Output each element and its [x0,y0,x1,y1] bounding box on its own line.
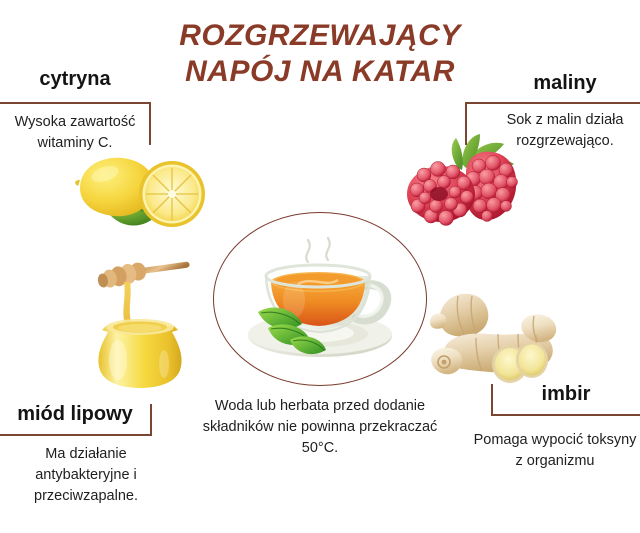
section-text-honey: Ma działanie antybakteryjne i przeciwzap… [0,444,172,507]
title-line-1: ROZGRZEWAJĄCY [179,19,461,52]
bracket-rule-honey-vertical [150,404,152,436]
honey-jar-icon [80,252,200,390]
poster-canvas: ROZGRZEWAJĄCY NAPÓJ NA KATAR cytryna Wys… [0,0,640,533]
teacup-icon [228,228,414,368]
raspberry-icon [404,132,526,236]
bracket-rule-ginger-horizontal [491,414,640,416]
section-heading-raspberry: maliny [490,72,640,95]
bracket-rule-honey-horizontal [0,434,152,436]
section-heading-lemon: cytryna [0,68,150,91]
section-heading-ginger: imbir [492,383,640,406]
section-text-ginger: Pomaga wypocić toksyny z organizmu [470,430,640,472]
bracket-rule-raspberry-horizontal [465,102,640,104]
section-heading-honey: miód lipowy [0,403,150,426]
bracket-rule-lemon-horizontal [0,102,151,104]
lemon-icon [72,148,208,240]
bracket-rule-ginger-vertical [491,384,493,416]
center-caption: Woda lub herbata przed dodanie składnikó… [200,396,440,459]
ginger-root-icon [424,278,560,384]
